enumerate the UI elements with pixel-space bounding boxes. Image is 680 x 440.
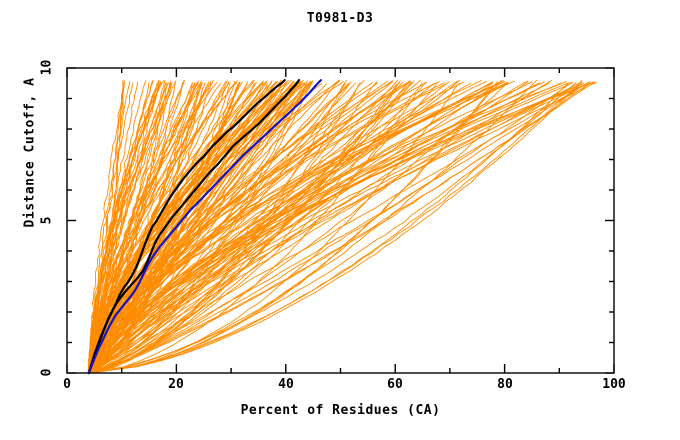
chart-container: T0981-D3 Distance Cutoff, A Percent of R… [0,0,680,440]
plot-canvas [0,0,680,440]
